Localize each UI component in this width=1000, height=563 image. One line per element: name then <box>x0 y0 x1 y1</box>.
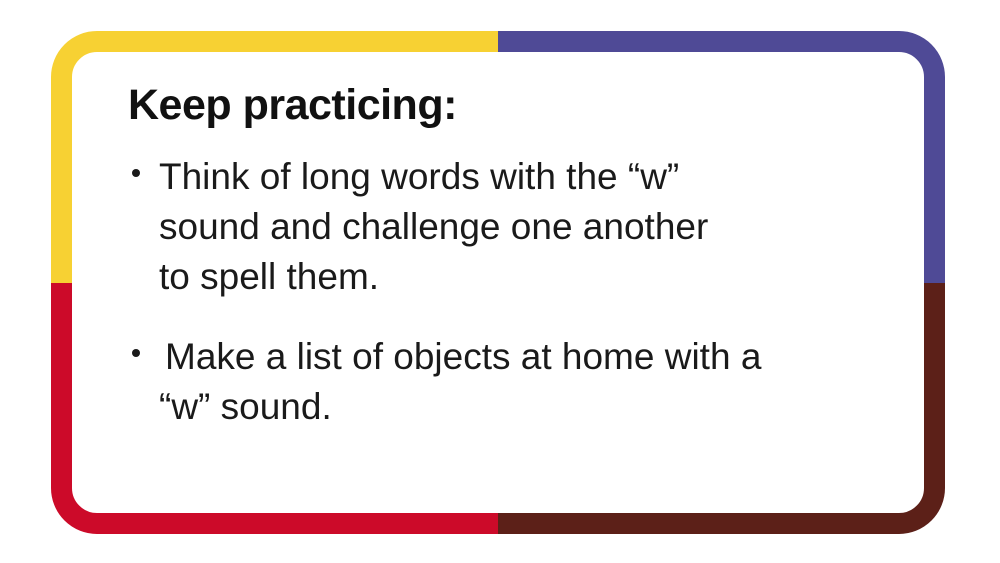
slide-content: Keep practicing: Think of long words wit… <box>51 31 945 534</box>
slide-heading: Keep practicing: <box>128 83 905 128</box>
practice-tips-list: Think of long words with the “w” sound a… <box>128 152 905 432</box>
bullet-text-list-objects-lead: Make a list of objects at home with a <box>159 336 761 377</box>
list-item: Think of long words with the “w” sound a… <box>128 152 905 302</box>
bullet-text-list-objects-tail: “w” sound. <box>159 386 332 427</box>
list-item: Make a list of objects at home with a “w… <box>128 332 905 432</box>
bullet-dot-icon <box>132 349 140 357</box>
decorative-color-frame: Keep practicing: Think of long words wit… <box>51 31 945 534</box>
bullet-text-long-words: Think of long words with the “w” sound a… <box>159 156 708 297</box>
bullet-dot-icon <box>132 169 140 177</box>
slide-canvas: Keep practicing: Think of long words wit… <box>0 0 1000 563</box>
